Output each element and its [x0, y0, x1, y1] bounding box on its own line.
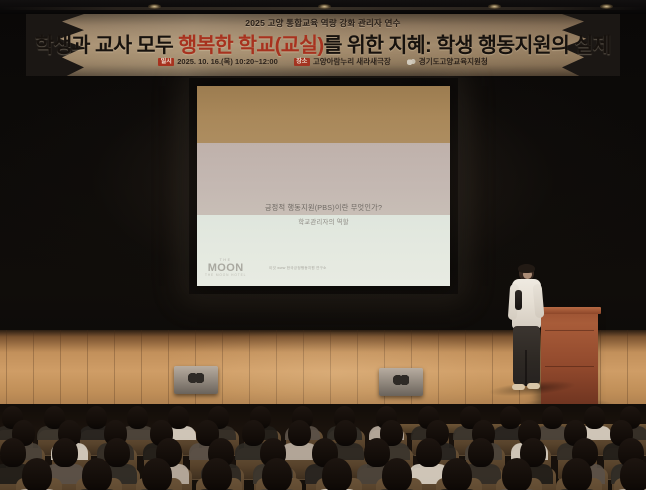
speaker-presenter — [505, 264, 547, 400]
speaker-hair — [518, 264, 535, 273]
podium-seam — [545, 366, 594, 367]
banner-title-part2: 를 위한 지혜: 학생 행동지원의 실제 — [324, 34, 611, 57]
event-banner: 2025 고양 통합교육 역량 강화 관리자 연수 학생과 교사 모두 행복한 … — [26, 14, 620, 76]
audience-member-head — [202, 458, 232, 490]
slide-title: 긍정적 행동지원(PBS)이란 무엇인가? — [197, 203, 450, 213]
audience-member-head — [442, 458, 472, 490]
ceiling-light — [488, 4, 501, 9]
audience-member-head — [620, 458, 646, 490]
speaker-shoe-left — [512, 384, 525, 390]
audience-member-head — [542, 406, 563, 429]
audience-member-head — [502, 458, 532, 490]
auditorium-photo: 2025 고양 통합교육 역량 강화 관리자 연수 학생과 교사 모두 행복한 … — [0, 0, 646, 490]
audience-member-head — [0, 438, 26, 467]
audience-member-head — [288, 420, 311, 446]
banner-title-part1: 학생과 교사 모두 — [35, 34, 178, 57]
podium-top-surface — [538, 307, 601, 314]
audience-member-head — [334, 420, 357, 446]
banner-organizer-group: 경기도고양교육지원청 — [407, 56, 488, 67]
slide-subtitle: 학교관리자의 역할 — [197, 217, 450, 226]
audience-member-head — [127, 406, 148, 429]
projection-screen: 긍정적 행동지원(PBS)이란 무엇인가? 학교관리자의 역할 THE MOON… — [197, 86, 450, 286]
date-value: 2025. 10. 16.(목) 10:20~12:00 — [177, 56, 278, 67]
place-value: 고양아람누리 새라새극장 — [313, 56, 391, 67]
audience-member-head — [382, 458, 412, 490]
audience-member-head — [242, 420, 265, 446]
organizer-value: 경기도고양교육지원청 — [419, 56, 488, 67]
organizer-logo-icon — [407, 58, 416, 65]
slide-logo: THE MOON THE MOON HOTEL — [205, 259, 246, 277]
banner-title-highlight: 행복한 학교(교실) — [178, 34, 323, 57]
ceiling-light — [148, 4, 161, 9]
audience-member-head — [468, 438, 494, 467]
stage-monitor-right — [379, 368, 423, 396]
stage-monitor-left — [174, 366, 218, 394]
audience-member-head — [22, 458, 52, 490]
audience-member-head — [262, 458, 292, 490]
place-tag: 장소 — [294, 58, 310, 66]
audience-member-head — [500, 406, 521, 429]
slide-credit: 이것 www 한국긍정행동지원 연구소 — [269, 266, 327, 271]
speaker-shoe-right — [527, 383, 540, 389]
banner-meta: 일시 2025. 10. 16.(목) 10:20~12:00 장소 고양아람누… — [26, 56, 620, 67]
speaker-leg-split — [525, 350, 527, 386]
slide-band-top — [197, 86, 450, 143]
audience-member-head — [322, 458, 352, 490]
banner-place-group: 장소 고양아람누리 새라새극장 — [294, 56, 391, 67]
audience-member-head — [52, 438, 78, 467]
ceiling-light — [318, 4, 331, 9]
podium-seam — [545, 330, 594, 331]
banner-date-group: 일시 2025. 10. 16.(목) 10:20~12:00 — [158, 56, 278, 67]
microphone-icon — [515, 290, 522, 310]
audience-member-head — [82, 458, 112, 490]
audience-member-head — [142, 458, 172, 490]
ceiling-light — [600, 4, 613, 9]
monitor-grill-icon — [188, 373, 204, 383]
monitor-grill-icon — [393, 375, 409, 385]
speaker-arm-right — [533, 284, 545, 319]
slide-logo-bottom: THE MOON HOTEL — [205, 274, 246, 277]
audience-member-head — [584, 406, 605, 429]
banner-title: 학생과 교사 모두 행복한 학교(교실)를 위한 지혜: 학생 행동지원의 실제 — [26, 28, 620, 58]
audience-member-head — [86, 406, 107, 429]
date-tag: 일시 — [158, 58, 174, 66]
audience-member-head — [562, 458, 592, 490]
audience-member-head — [416, 438, 442, 467]
